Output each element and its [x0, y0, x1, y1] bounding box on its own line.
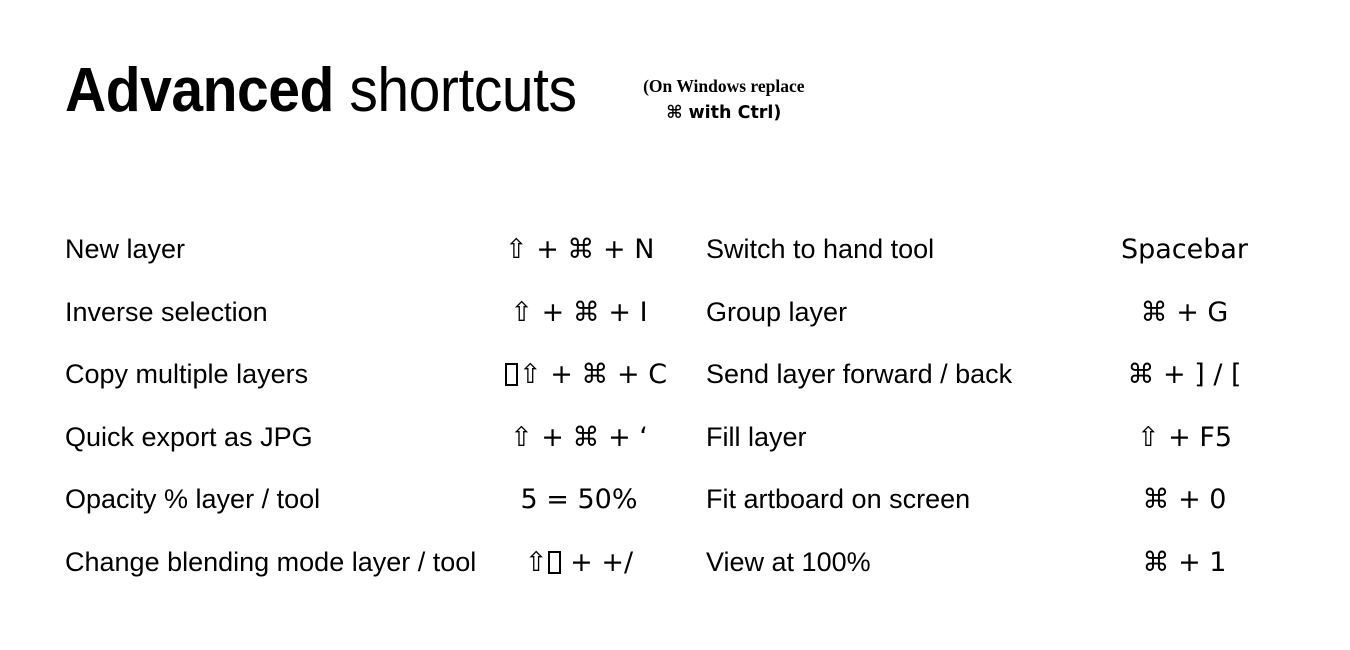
shortcut-row: Opacity % layer / tool 5 = 50%	[65, 484, 653, 547]
shortcut-row: Quick export as JPG ⇧ + ⌘ + ‘	[65, 422, 653, 485]
shortcut-keys: ⇧ + +/	[505, 547, 653, 578]
shortcut-keys: ⌘ + 0	[1096, 484, 1273, 515]
shortcut-row: Group layer ⌘ + G	[706, 297, 1273, 360]
shortcut-keys: ⇧ + ⌘ + N	[505, 234, 653, 265]
page-title: Advanced shortcuts	[65, 60, 577, 122]
shortcut-row: Fill layer ⇧ + F5	[706, 422, 1273, 485]
shortcut-keys: ⇧ + ⌘ + I	[505, 297, 653, 328]
shortcut-label: Fill layer	[706, 422, 1096, 453]
shortcut-keys-text-tail: + +/	[562, 547, 634, 578]
page-title-strong: Advanced	[65, 56, 334, 125]
shortcut-label: New layer	[65, 234, 505, 265]
shortcut-keys: ⌘ + ] / [	[1096, 359, 1273, 390]
shortcut-label: Opacity % layer / tool	[65, 484, 505, 515]
shortcut-keys: ⇧ + ⌘ + C	[505, 359, 653, 390]
shortcut-label: View at 100%	[706, 547, 1096, 578]
shortcut-row: Copy multiple layers ⇧ + ⌘ + C	[65, 359, 653, 422]
shortcut-row: Send layer forward / back ⌘ + ] / [	[706, 359, 1273, 422]
shortcut-column-right: Switch to hand tool Spacebar Group layer…	[653, 234, 1273, 609]
shortcut-row: Change blending mode layer / tool ⇧ + +/	[65, 547, 653, 610]
shortcut-column-left: New layer ⇧ + ⌘ + N Inverse selection ⇧ …	[0, 234, 653, 609]
shortcut-row: View at 100% ⌘ + 1	[706, 547, 1273, 610]
shortcut-keys: ⇧ + ⌘ + ‘	[505, 422, 653, 453]
shortcut-keys: ⇧ + F5	[1096, 422, 1273, 453]
platform-note-line-2: ⌘ with Ctrl)	[643, 100, 804, 127]
platform-note: (On Windows replace ⌘ with Ctrl)	[643, 73, 804, 127]
shortcut-label: Group layer	[706, 297, 1096, 328]
shortcut-label: Copy multiple layers	[65, 359, 505, 390]
shortcut-label: Quick export as JPG	[65, 422, 505, 453]
missing-glyph-box-icon	[505, 363, 518, 386]
shortcut-row: Switch to hand tool Spacebar	[706, 234, 1273, 297]
shortcut-row: Fit artboard on screen ⌘ + 0	[706, 484, 1273, 547]
shortcut-keys: 5 = 50%	[505, 484, 653, 515]
shortcut-grid: New layer ⇧ + ⌘ + N Inverse selection ⇧ …	[0, 234, 1350, 609]
shortcut-row: Inverse selection ⇧ + ⌘ + I	[65, 297, 653, 360]
shortcut-label: Fit artboard on screen	[706, 484, 1096, 515]
platform-note-line-1: (On Windows replace	[643, 73, 804, 100]
missing-glyph-box-icon	[548, 551, 561, 574]
shortcut-keys: ⌘ + 1	[1096, 547, 1273, 578]
shortcut-keys: ⌘ + G	[1096, 297, 1273, 328]
shortcut-label: Switch to hand tool	[706, 234, 1096, 265]
shortcut-keys-text: ⇧ + ⌘ + C	[519, 359, 667, 390]
shortcut-label: Send layer forward / back	[706, 359, 1096, 390]
shortcut-keys-text: ⇧	[525, 547, 548, 578]
shortcut-label: Inverse selection	[65, 297, 505, 328]
shortcut-row: New layer ⇧ + ⌘ + N	[65, 234, 653, 297]
page-title-light: shortcuts	[334, 56, 577, 125]
page-header: Advanced shortcuts (On Windows replace ⌘…	[65, 60, 805, 127]
shortcut-keys: Spacebar	[1096, 234, 1273, 265]
shortcut-label: Change blending mode layer / tool	[65, 547, 505, 578]
